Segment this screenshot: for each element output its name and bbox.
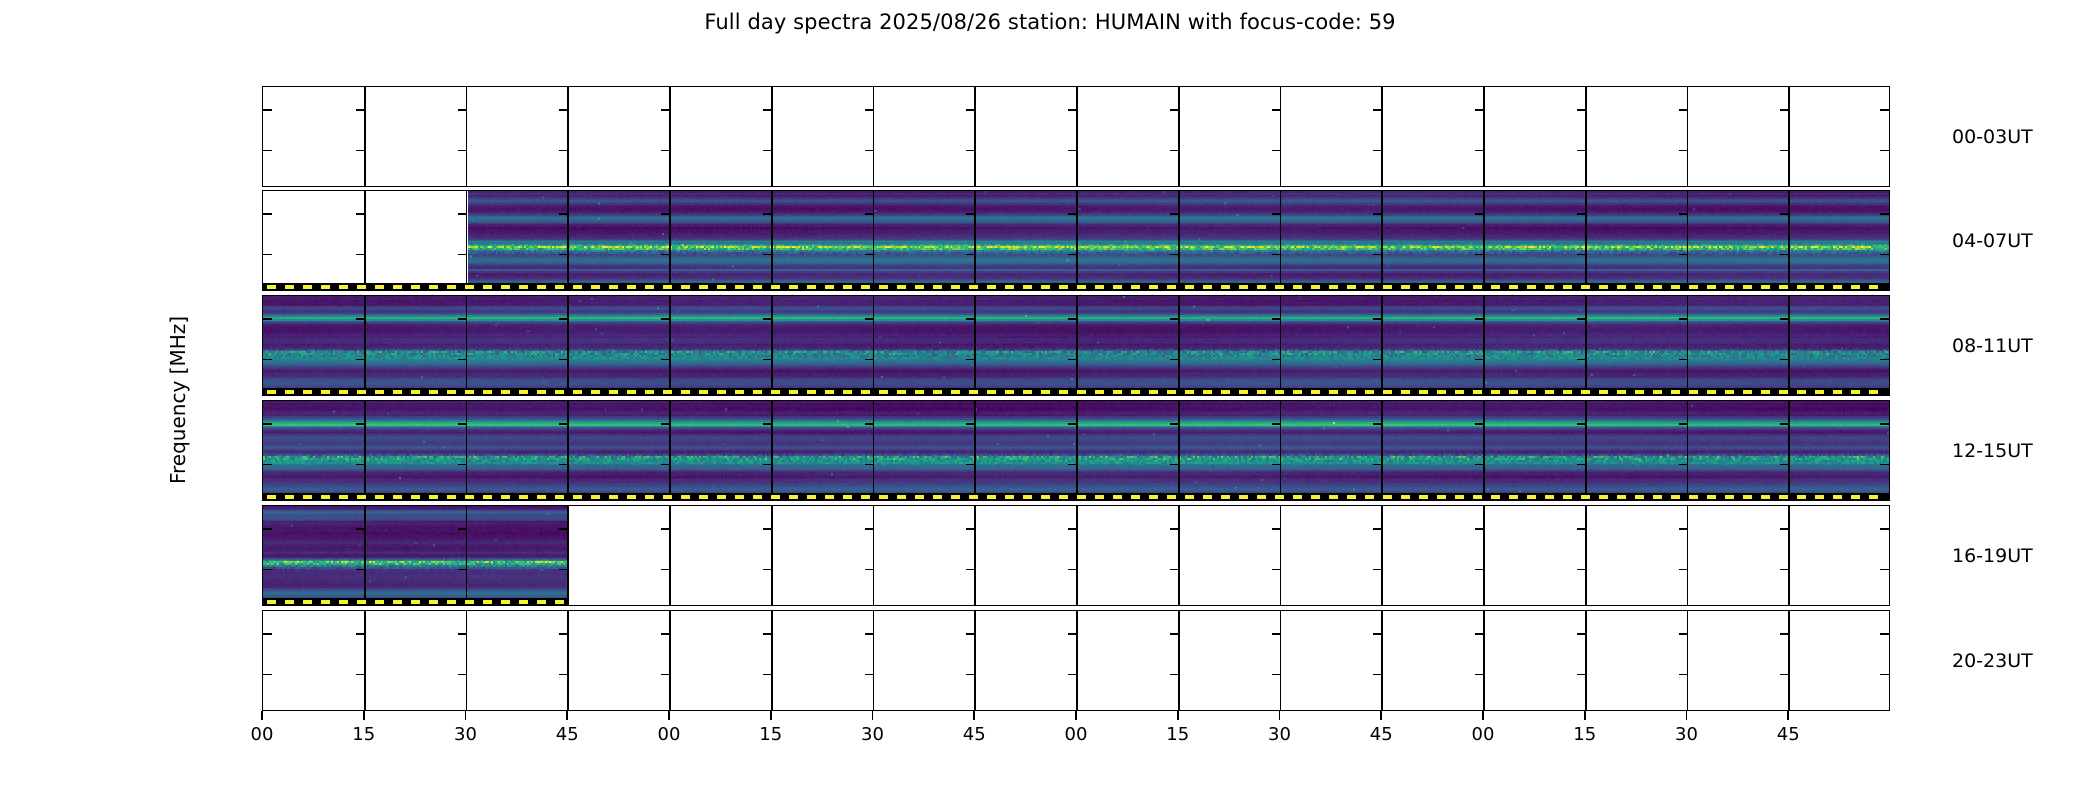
marker-dash bbox=[663, 390, 672, 394]
x-tick-mark bbox=[1177, 711, 1179, 720]
marker-dash bbox=[321, 390, 330, 394]
marker-dash bbox=[951, 285, 960, 289]
panel-separator bbox=[1381, 611, 1383, 710]
marker-dash bbox=[879, 285, 888, 289]
panel-16-19ut[interactable] bbox=[262, 505, 1890, 606]
y-tick-mark bbox=[356, 318, 365, 320]
x-tick-label: 30 bbox=[1675, 724, 1698, 745]
y-tick-mark bbox=[1577, 359, 1586, 361]
y-tick-mark bbox=[559, 674, 568, 676]
marker-dash bbox=[1437, 390, 1446, 394]
y-tick-mark bbox=[661, 569, 670, 571]
panel-separator bbox=[364, 87, 366, 186]
marker-dash bbox=[555, 600, 564, 604]
marker-dash bbox=[753, 285, 762, 289]
marker-dash bbox=[285, 285, 294, 289]
panel-separator bbox=[669, 191, 671, 290]
marker-dash bbox=[1257, 285, 1266, 289]
y-tick-mark bbox=[458, 569, 467, 571]
marker-dash bbox=[1005, 495, 1014, 499]
y-tick-mark bbox=[1373, 528, 1382, 530]
y-tick-mark bbox=[1373, 150, 1382, 152]
y-tick-mark bbox=[1679, 464, 1688, 466]
marker-dash bbox=[609, 285, 618, 289]
marker-dash bbox=[1563, 285, 1572, 289]
y-tick-mark bbox=[661, 318, 670, 320]
y-tick-mark bbox=[966, 254, 975, 256]
y-tick-mark bbox=[966, 528, 975, 530]
marker-dash bbox=[1815, 390, 1824, 394]
y-tick-mark bbox=[356, 569, 365, 571]
panel-separator bbox=[669, 611, 671, 710]
x-tick-mark bbox=[1787, 711, 1789, 720]
marker-dash bbox=[699, 495, 708, 499]
x-tick-label: 15 bbox=[1573, 724, 1596, 745]
marker-dash bbox=[483, 285, 492, 289]
marker-dash bbox=[1347, 495, 1356, 499]
marker-dash bbox=[465, 285, 474, 289]
y-tick-mark bbox=[966, 318, 975, 320]
marker-dash bbox=[789, 495, 798, 499]
marker-dash bbox=[735, 285, 744, 289]
y-tick-mark bbox=[1780, 464, 1789, 466]
y-tick-mark bbox=[1475, 359, 1484, 361]
y-tick-mark bbox=[1880, 569, 1889, 571]
panel-separator bbox=[1687, 87, 1689, 186]
marker-dash bbox=[285, 390, 294, 394]
marker-dash bbox=[1725, 390, 1734, 394]
marker-dash bbox=[339, 390, 348, 394]
marker-dash bbox=[1545, 495, 1554, 499]
panel-separator bbox=[873, 191, 875, 290]
x-tick-mark bbox=[261, 711, 263, 720]
marker-dash bbox=[267, 390, 276, 394]
marker-dash bbox=[303, 495, 312, 499]
y-tick-mark bbox=[263, 528, 272, 530]
panel-separator bbox=[974, 611, 976, 710]
marker-dash bbox=[1779, 285, 1788, 289]
y-tick-mark bbox=[661, 150, 670, 152]
y-tick-mark bbox=[1780, 109, 1789, 111]
marker-dash bbox=[1167, 390, 1176, 394]
y-tick-mark bbox=[1780, 213, 1789, 215]
marker-dash bbox=[375, 495, 384, 499]
data-coverage-marker-bar bbox=[263, 283, 1890, 290]
x-tick-label: 00 bbox=[1065, 724, 1088, 745]
y-tick-mark bbox=[1880, 254, 1889, 256]
panel-time-label: 20-23UT bbox=[1952, 650, 2033, 672]
y-tick-mark bbox=[1272, 318, 1281, 320]
marker-dash bbox=[1473, 390, 1482, 394]
marker-dash bbox=[1311, 495, 1320, 499]
y-tick-mark bbox=[763, 254, 772, 256]
y-tick-mark bbox=[865, 464, 874, 466]
panel-separator bbox=[771, 506, 773, 605]
y-tick-mark bbox=[661, 464, 670, 466]
marker-dash bbox=[1239, 390, 1248, 394]
panel-separator bbox=[1585, 506, 1587, 605]
marker-dash bbox=[735, 390, 744, 394]
x-tick-label: 00 bbox=[658, 724, 681, 745]
y-tick-mark bbox=[865, 109, 874, 111]
y-tick-mark bbox=[661, 423, 670, 425]
x-tick-mark bbox=[973, 711, 975, 720]
marker-dash bbox=[771, 495, 780, 499]
marker-dash bbox=[753, 390, 762, 394]
panel-separator bbox=[567, 296, 569, 395]
marker-dash bbox=[465, 600, 474, 604]
y-tick-mark bbox=[1170, 254, 1179, 256]
panel-00-03ut[interactable] bbox=[262, 86, 1890, 187]
marker-dash bbox=[609, 495, 618, 499]
y-tick-mark bbox=[559, 359, 568, 361]
y-tick-mark bbox=[1475, 254, 1484, 256]
marker-dash bbox=[573, 285, 582, 289]
marker-dash bbox=[339, 600, 348, 604]
marker-dash bbox=[1653, 390, 1662, 394]
panel-separator bbox=[567, 506, 569, 605]
marker-dash bbox=[1617, 495, 1626, 499]
y-tick-mark bbox=[1272, 150, 1281, 152]
y-tick-mark bbox=[865, 674, 874, 676]
marker-dash bbox=[1275, 390, 1284, 394]
y-tick-mark bbox=[763, 150, 772, 152]
x-tick-mark bbox=[1075, 711, 1077, 720]
x-tick-label: 15 bbox=[352, 724, 375, 745]
marker-dash bbox=[1797, 285, 1806, 289]
marker-dash bbox=[969, 390, 978, 394]
marker-dash bbox=[1383, 390, 1392, 394]
marker-dash bbox=[807, 495, 816, 499]
marker-dash bbox=[339, 495, 348, 499]
panel-separator bbox=[1788, 506, 1790, 605]
y-tick-mark bbox=[356, 633, 365, 635]
marker-dash bbox=[1293, 495, 1302, 499]
panel-axes bbox=[262, 86, 1890, 187]
panel-separator bbox=[1585, 191, 1587, 290]
marker-dash bbox=[1329, 285, 1338, 289]
marker-dash bbox=[1239, 495, 1248, 499]
marker-dash bbox=[1221, 285, 1230, 289]
marker-dash bbox=[1509, 285, 1518, 289]
y-tick-mark bbox=[1679, 109, 1688, 111]
x-tick-mark bbox=[1482, 711, 1484, 720]
marker-dash bbox=[483, 600, 492, 604]
marker-dash bbox=[1851, 390, 1860, 394]
y-tick-mark bbox=[1170, 109, 1179, 111]
y-tick-mark bbox=[1068, 109, 1077, 111]
marker-dash bbox=[717, 495, 726, 499]
marker-dash bbox=[1491, 390, 1500, 394]
marker-dash bbox=[1581, 495, 1590, 499]
marker-dash bbox=[1095, 285, 1104, 289]
panel-axes bbox=[262, 295, 1890, 396]
y-tick-mark bbox=[458, 254, 467, 256]
y-tick-mark bbox=[263, 569, 272, 571]
y-tick-mark bbox=[865, 423, 874, 425]
marker-dash bbox=[681, 495, 690, 499]
panel-time-label: 12-15UT bbox=[1952, 440, 2033, 462]
y-tick-mark bbox=[966, 109, 975, 111]
y-tick-mark bbox=[263, 674, 272, 676]
marker-dash bbox=[843, 285, 852, 289]
marker-dash bbox=[915, 495, 924, 499]
y-tick-mark bbox=[559, 318, 568, 320]
panel-12-15ut[interactable] bbox=[262, 400, 1890, 501]
marker-dash bbox=[1023, 285, 1032, 289]
panel-time-label: 08-11UT bbox=[1952, 335, 2033, 357]
marker-dash bbox=[1293, 285, 1302, 289]
marker-dash bbox=[357, 495, 366, 499]
marker-dash bbox=[537, 600, 546, 604]
y-tick-mark bbox=[1272, 633, 1281, 635]
marker-dash bbox=[1311, 285, 1320, 289]
y-tick-mark bbox=[1880, 674, 1889, 676]
marker-dash bbox=[1671, 390, 1680, 394]
y-tick-mark bbox=[1475, 213, 1484, 215]
y-tick-mark bbox=[1780, 633, 1789, 635]
y-tick-mark bbox=[865, 213, 874, 215]
panel-axes bbox=[262, 505, 1890, 606]
panel-axes bbox=[262, 610, 1890, 711]
marker-dash bbox=[1347, 390, 1356, 394]
y-tick-mark bbox=[1170, 464, 1179, 466]
marker-dash bbox=[1023, 495, 1032, 499]
panel-08-11ut[interactable] bbox=[262, 295, 1890, 396]
y-tick-mark bbox=[865, 254, 874, 256]
y-tick-mark bbox=[1577, 213, 1586, 215]
y-tick-mark bbox=[661, 254, 670, 256]
marker-dash bbox=[1545, 285, 1554, 289]
marker-dash bbox=[1275, 285, 1284, 289]
x-tick-mark bbox=[465, 711, 467, 720]
marker-dash bbox=[1347, 285, 1356, 289]
marker-dash bbox=[537, 390, 546, 394]
marker-dash bbox=[987, 495, 996, 499]
marker-dash bbox=[897, 285, 906, 289]
panel-separator bbox=[1280, 296, 1282, 395]
marker-dash bbox=[483, 390, 492, 394]
panel-separator bbox=[364, 611, 366, 710]
y-tick-mark bbox=[356, 528, 365, 530]
y-tick-mark bbox=[1068, 359, 1077, 361]
panel-20-23ut[interactable] bbox=[262, 610, 1890, 711]
marker-dash bbox=[1185, 495, 1194, 499]
marker-dash bbox=[1149, 390, 1158, 394]
marker-dash bbox=[1329, 390, 1338, 394]
y-tick-mark bbox=[1780, 528, 1789, 530]
y-tick-mark bbox=[865, 150, 874, 152]
marker-dash bbox=[267, 600, 276, 604]
panel-separator bbox=[1585, 611, 1587, 710]
y-tick-mark bbox=[263, 213, 272, 215]
marker-dash bbox=[1041, 495, 1050, 499]
marker-dash bbox=[357, 285, 366, 289]
marker-dash bbox=[411, 600, 420, 604]
panel-separator bbox=[1076, 87, 1078, 186]
x-axis: 00153045001530450015304500153045 bbox=[0, 740, 2100, 780]
y-tick-mark bbox=[559, 109, 568, 111]
panel-separator bbox=[567, 401, 569, 500]
y-tick-mark bbox=[1068, 464, 1077, 466]
marker-dash bbox=[609, 390, 618, 394]
marker-dash bbox=[1077, 285, 1086, 289]
marker-dash bbox=[933, 495, 942, 499]
panel-04-07ut[interactable] bbox=[262, 190, 1890, 291]
marker-dash bbox=[1761, 495, 1770, 499]
marker-dash bbox=[1059, 285, 1068, 289]
marker-dash bbox=[501, 390, 510, 394]
y-tick-mark bbox=[559, 464, 568, 466]
spectrogram-canvas bbox=[263, 506, 569, 605]
y-tick-mark bbox=[865, 569, 874, 571]
marker-dash bbox=[933, 390, 942, 394]
marker-dash bbox=[663, 495, 672, 499]
marker-dash bbox=[375, 600, 384, 604]
marker-dash bbox=[825, 285, 834, 289]
marker-dash bbox=[699, 390, 708, 394]
y-tick-mark bbox=[1780, 359, 1789, 361]
marker-dash bbox=[393, 495, 402, 499]
marker-dash bbox=[1707, 495, 1716, 499]
marker-dash bbox=[1707, 390, 1716, 394]
data-coverage-marker-bar bbox=[263, 598, 569, 605]
y-tick-mark bbox=[1475, 528, 1484, 530]
marker-dash bbox=[1041, 390, 1050, 394]
marker-dash bbox=[1509, 495, 1518, 499]
x-tick-label: 30 bbox=[861, 724, 884, 745]
y-tick-mark bbox=[1475, 633, 1484, 635]
marker-dash bbox=[789, 390, 798, 394]
y-tick-mark bbox=[1272, 254, 1281, 256]
marker-dash bbox=[1869, 390, 1878, 394]
marker-dash bbox=[1833, 390, 1842, 394]
marker-dash bbox=[501, 285, 510, 289]
marker-dash bbox=[1455, 390, 1464, 394]
marker-dash bbox=[393, 285, 402, 289]
y-tick-mark bbox=[1272, 674, 1281, 676]
marker-dash bbox=[1419, 285, 1428, 289]
marker-dash bbox=[1527, 285, 1536, 289]
marker-dash bbox=[699, 285, 708, 289]
y-tick-mark bbox=[559, 423, 568, 425]
marker-dash bbox=[393, 390, 402, 394]
panel-separator bbox=[873, 401, 875, 500]
y-tick-mark bbox=[1170, 633, 1179, 635]
marker-dash bbox=[519, 390, 528, 394]
marker-dash bbox=[1797, 495, 1806, 499]
x-tick-mark bbox=[1686, 711, 1688, 720]
marker-dash bbox=[1509, 390, 1518, 394]
x-tick-mark bbox=[566, 711, 568, 720]
marker-dash bbox=[555, 285, 564, 289]
y-tick-mark bbox=[458, 633, 467, 635]
panel-separator bbox=[466, 401, 468, 500]
y-tick-mark bbox=[966, 464, 975, 466]
y-tick-mark bbox=[1373, 109, 1382, 111]
marker-dash bbox=[1599, 285, 1608, 289]
marker-dash bbox=[1473, 495, 1482, 499]
marker-dash bbox=[285, 600, 294, 604]
x-tick-label: 00 bbox=[1472, 724, 1495, 745]
y-tick-mark bbox=[1577, 528, 1586, 530]
y-tick-mark bbox=[1170, 674, 1179, 676]
marker-dash bbox=[843, 495, 852, 499]
marker-dash bbox=[447, 495, 456, 499]
marker-dash bbox=[1131, 495, 1140, 499]
marker-dash bbox=[1311, 390, 1320, 394]
y-tick-mark bbox=[1780, 150, 1789, 152]
marker-dash bbox=[933, 285, 942, 289]
y-tick-mark bbox=[1679, 359, 1688, 361]
x-tick-label: 45 bbox=[556, 724, 579, 745]
y-tick-mark bbox=[1170, 359, 1179, 361]
panel-separator bbox=[1687, 611, 1689, 710]
marker-dash bbox=[465, 390, 474, 394]
spectrogram-figure: Full day spectra 2025/08/26 station: HUM… bbox=[0, 0, 2100, 800]
y-tick-mark bbox=[966, 213, 975, 215]
y-tick-mark bbox=[263, 633, 272, 635]
y-tick-mark bbox=[1679, 528, 1688, 530]
panel-separator bbox=[1076, 296, 1078, 395]
marker-dash bbox=[807, 390, 816, 394]
spectrogram-image bbox=[263, 506, 569, 605]
marker-dash bbox=[1437, 285, 1446, 289]
marker-dash bbox=[1329, 495, 1338, 499]
y-tick-mark bbox=[1577, 674, 1586, 676]
marker-dash bbox=[1275, 495, 1284, 499]
marker-dash bbox=[1257, 495, 1266, 499]
y-tick-mark bbox=[263, 318, 272, 320]
marker-dash bbox=[1203, 495, 1212, 499]
y-tick-mark bbox=[661, 359, 670, 361]
y-tick-mark bbox=[1068, 633, 1077, 635]
marker-dash bbox=[501, 600, 510, 604]
y-tick-mark bbox=[458, 109, 467, 111]
x-tick-label: 45 bbox=[963, 724, 986, 745]
y-tick-mark bbox=[1272, 569, 1281, 571]
y-tick-mark bbox=[559, 528, 568, 530]
marker-dash bbox=[861, 390, 870, 394]
y-tick-mark bbox=[966, 633, 975, 635]
y-tick-mark bbox=[1170, 213, 1179, 215]
marker-dash bbox=[1725, 495, 1734, 499]
figure-title: Full day spectra 2025/08/26 station: HUM… bbox=[0, 10, 2100, 34]
panel-separator bbox=[567, 87, 569, 186]
marker-dash bbox=[1617, 390, 1626, 394]
y-tick-mark bbox=[1373, 464, 1382, 466]
y-tick-mark bbox=[1780, 318, 1789, 320]
x-tick-mark bbox=[1584, 711, 1586, 720]
y-tick-mark bbox=[1577, 464, 1586, 466]
panel-separator bbox=[873, 506, 875, 605]
panel-separator bbox=[1381, 506, 1383, 605]
panel-separator bbox=[1585, 296, 1587, 395]
panel-separator bbox=[1076, 401, 1078, 500]
marker-dash bbox=[1563, 390, 1572, 394]
marker-dash bbox=[591, 390, 600, 394]
y-tick-mark bbox=[1880, 633, 1889, 635]
y-tick-mark bbox=[1475, 464, 1484, 466]
panel-separator bbox=[567, 191, 569, 290]
marker-dash bbox=[465, 495, 474, 499]
panel-time-label: 04-07UT bbox=[1952, 230, 2033, 252]
marker-dash bbox=[447, 285, 456, 289]
marker-dash bbox=[573, 390, 582, 394]
marker-dash bbox=[951, 390, 960, 394]
marker-dash bbox=[411, 285, 420, 289]
marker-dash bbox=[1779, 390, 1788, 394]
